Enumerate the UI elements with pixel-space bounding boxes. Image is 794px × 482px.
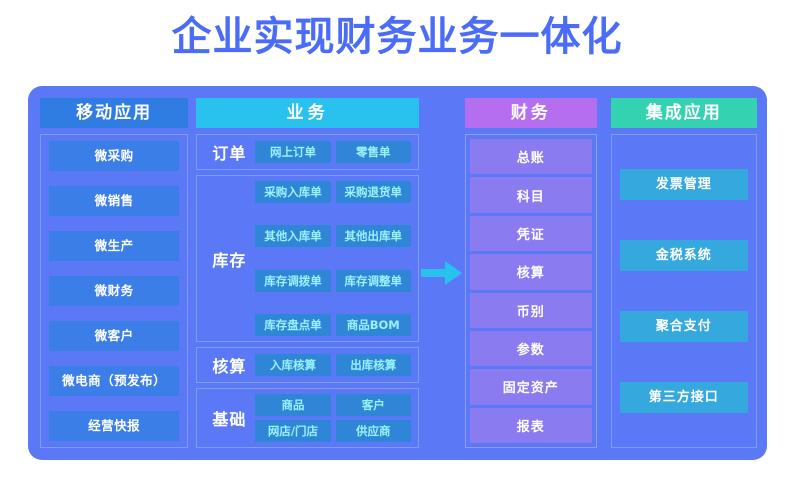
list-item[interactable]: 网上订单 [255,141,330,163]
list-item[interactable]: 聚合支付 [620,311,748,342]
business-groups: 订单 网上订单 零售单 库存 采购入库单 采购退货单 其他入库单 其他出库单 库… [196,134,419,448]
list-item[interactable]: 采购入库单 [255,181,330,203]
column-mobile-applications: 移动应用 微采购 微销售 微生产 微财务 微客户 微电商（预发布） 经营快报 [40,98,188,448]
list-item[interactable]: 供应商 [336,420,411,442]
business-group-tiles: 网上订单 零售单 [255,141,412,163]
list-item[interactable]: 发票管理 [620,169,748,200]
mobile-applications-list: 微采购 微销售 微生产 微财务 微客户 微电商（预发布） 经营快报 [40,134,188,448]
business-group-label: 基础 [203,406,255,430]
list-item[interactable]: 微财务 [49,276,179,306]
list-item[interactable]: 商品 [255,394,330,416]
list-item[interactable]: 经营快报 [49,411,179,441]
page-title: 企业实现财务业务一体化 [0,6,794,68]
list-item[interactable]: 微客户 [49,321,179,351]
list-item[interactable]: 出库核算 [336,354,411,376]
list-item[interactable]: 其他入库单 [255,225,330,247]
list-item[interactable]: 入库核算 [255,354,330,376]
list-item[interactable]: 其他出库单 [336,225,411,247]
list-item[interactable]: 总账 [470,139,592,174]
list-item[interactable]: 采购退货单 [336,181,411,203]
business-group-basic: 基础 商品 客户 网店/门店 供应商 [196,388,419,448]
business-group-label: 订单 [203,140,255,164]
business-group-label: 库存 [203,247,255,271]
list-item[interactable]: 币别 [470,293,592,328]
column-finance: 财务 总账 科目 凭证 核算 币别 参数 固定资产 报表 [465,98,597,448]
business-group-tiles: 商品 客户 网店/门店 供应商 [255,394,412,442]
list-item[interactable]: 核算 [470,254,592,289]
arrow-right-icon [421,259,463,287]
column-business: 业务 订单 网上订单 零售单 库存 采购入库单 采购退货单 其他入库单 其他出库… [196,98,419,448]
business-group-accounting: 核算 入库核算 出库核算 [196,347,419,383]
list-item[interactable]: 科目 [470,177,592,212]
column-header-finance: 财务 [465,98,597,128]
business-group-label: 核算 [203,353,255,377]
list-item[interactable]: 库存调整单 [336,270,411,292]
integration-applications-list: 发票管理 金税系统 聚合支付 第三方接口 [611,134,757,448]
list-item[interactable]: 金税系统 [620,240,748,271]
list-item[interactable]: 报表 [470,408,592,443]
column-header-business: 业务 [196,98,419,128]
list-item[interactable]: 库存盘点单 [255,314,330,336]
list-item[interactable]: 商品BOM [336,314,411,336]
list-item[interactable]: 微生产 [49,231,179,261]
finance-list: 总账 科目 凭证 核算 币别 参数 固定资产 报表 [465,134,597,448]
business-group-inventory: 库存 采购入库单 采购退货单 其他入库单 其他出库单 库存调拨单 库存调整单 库… [196,175,419,342]
list-item[interactable]: 微电商（预发布） [49,366,179,396]
architecture-diagram-panel: 移动应用 微采购 微销售 微生产 微财务 微客户 微电商（预发布） 经营快报 业… [28,86,767,460]
column-header-integration-applications: 集成应用 [611,98,757,128]
column-integration-applications: 集成应用 发票管理 金税系统 聚合支付 第三方接口 [611,98,757,448]
list-item[interactable]: 网店/门店 [255,420,330,442]
list-item[interactable]: 微采购 [49,141,179,171]
list-item[interactable]: 零售单 [336,141,411,163]
list-item[interactable]: 库存调拨单 [255,270,330,292]
business-group-tiles: 入库核算 出库核算 [255,354,412,376]
list-item[interactable]: 凭证 [470,216,592,251]
list-item[interactable]: 客户 [336,394,411,416]
business-group-tiles: 采购入库单 采购退货单 其他入库单 其他出库单 库存调拨单 库存调整单 库存盘点… [255,181,412,336]
flow-arrow-container [419,98,465,448]
list-item[interactable]: 第三方接口 [620,382,748,413]
list-item[interactable]: 微销售 [49,186,179,216]
business-group-order: 订单 网上订单 零售单 [196,134,419,170]
list-item[interactable]: 固定资产 [470,369,592,404]
list-item[interactable]: 参数 [470,331,592,366]
column-header-mobile-applications: 移动应用 [40,98,188,128]
